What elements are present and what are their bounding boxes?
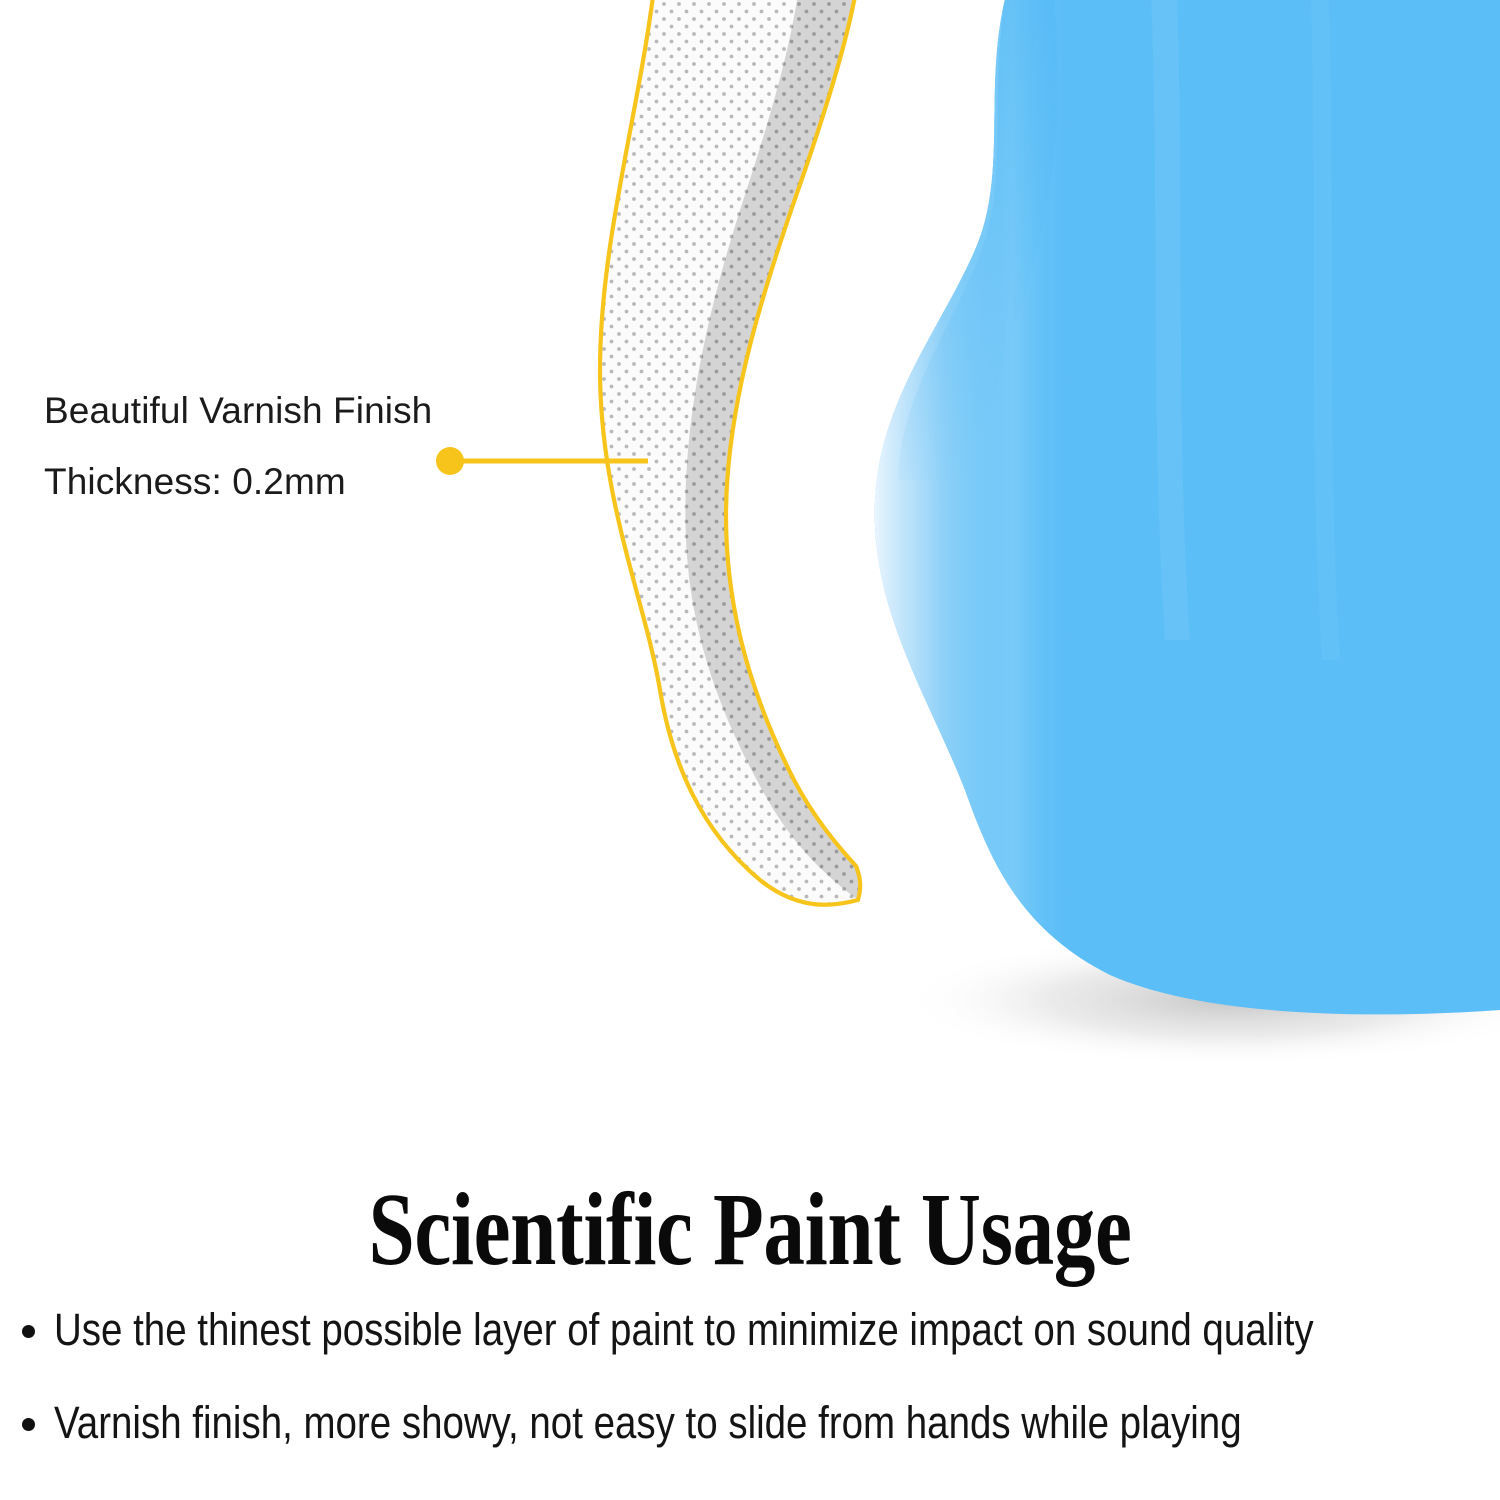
callout-text-block: Beautiful Varnish Finish Thickness: 0.2m… xyxy=(44,392,604,500)
callout-leader-group xyxy=(0,0,1500,1100)
callout-label-thickness: Thickness: 0.2mm xyxy=(44,463,604,500)
bullet-dot-icon xyxy=(22,1325,35,1338)
product-feature-panel: Beautiful Varnish Finish Thickness: 0.2m… xyxy=(0,0,1500,1500)
bullet-text: Varnish finish, more showy, not easy to … xyxy=(54,1399,1242,1446)
feature-bullet-list: Use the thinest possible layer of paint … xyxy=(22,1306,1492,1493)
bullet-dot-icon xyxy=(22,1418,35,1431)
list-item: Varnish finish, more showy, not easy to … xyxy=(22,1399,1492,1446)
section-heading: Scientific Paint Usage xyxy=(150,1178,1350,1282)
callout-label-varnish-finish: Beautiful Varnish Finish xyxy=(44,392,604,429)
bullet-text: Use the thinest possible layer of paint … xyxy=(54,1306,1314,1353)
list-item: Use the thinest possible layer of paint … xyxy=(22,1306,1492,1353)
